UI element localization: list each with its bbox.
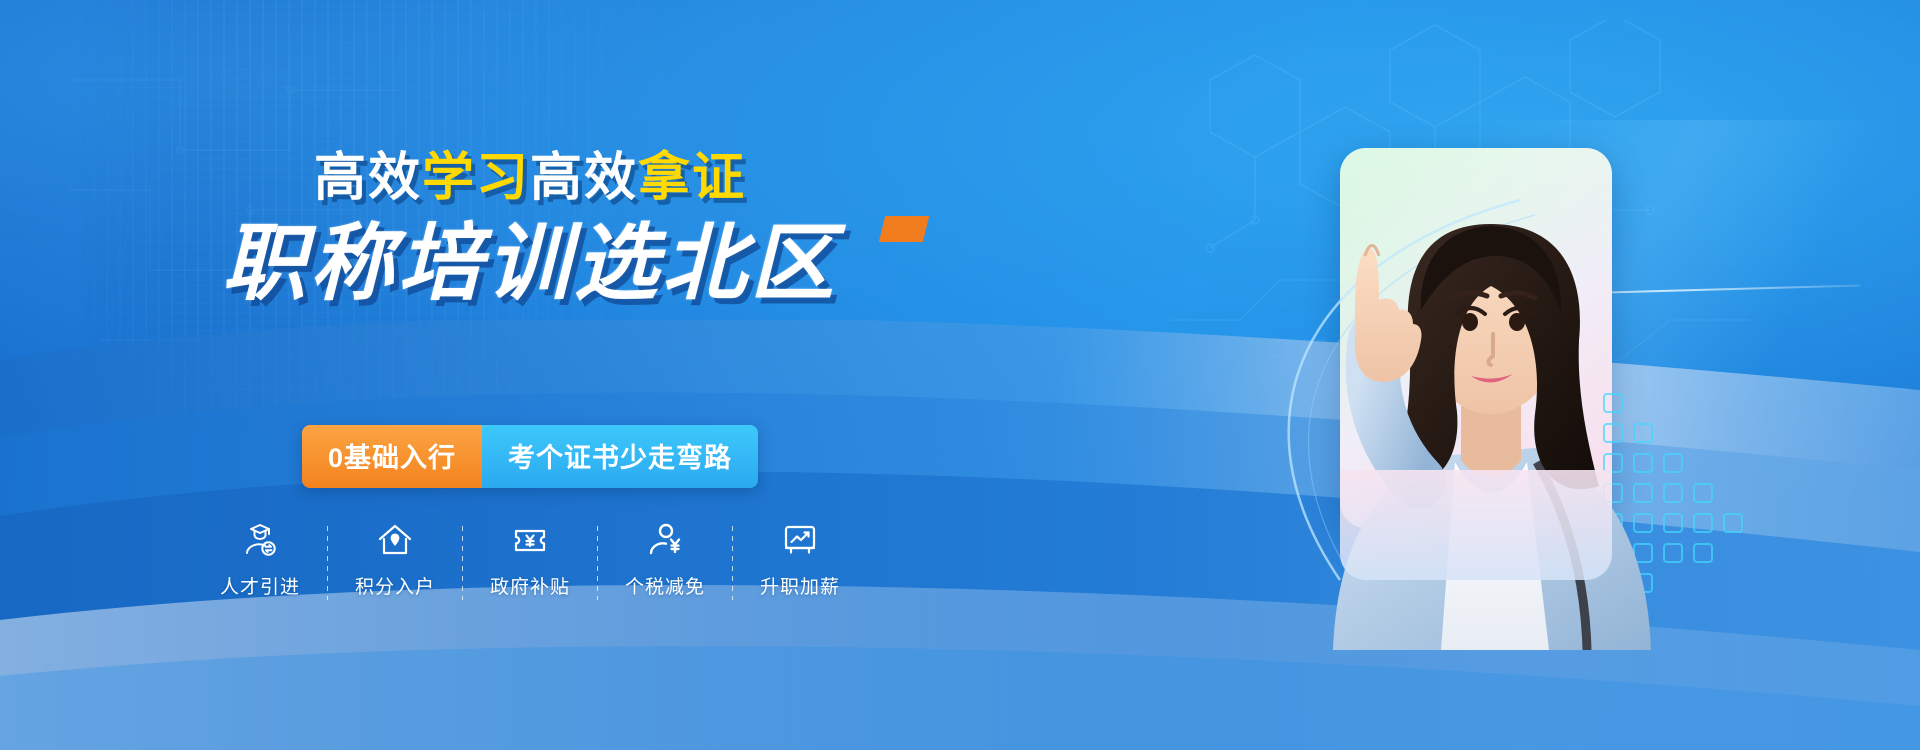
person-yuan-icon (645, 520, 685, 560)
badge-primary[interactable]: 0基础入行 (302, 425, 482, 488)
feature-label: 个税减免 (625, 572, 705, 599)
house-pin-icon (375, 520, 415, 560)
badge-secondary[interactable]: 考个证书少走弯路 (482, 425, 758, 488)
feature-label: 升职加薪 (760, 572, 840, 599)
chart-board-icon (780, 520, 820, 560)
card-lower-gradient (1340, 470, 1612, 580)
feature-list: 人才引进 积分入户 (0, 520, 1060, 600)
feature-item-talent[interactable]: 人才引进 (193, 520, 327, 599)
feature-item-tax[interactable]: 个税减免 (598, 520, 732, 599)
badge-group: 0基础入行 考个证书少走弯路 (302, 425, 758, 488)
banner-content: 高效学习高效拿证 职称培训选北区 0基础入行 考个证书少走弯路 (0, 0, 1060, 750)
graduate-exchange-icon (240, 520, 280, 560)
feature-item-residency[interactable]: 积分入户 (328, 520, 462, 599)
headline-subline: 高效学习高效拿证 (0, 152, 1060, 204)
ticket-yuan-icon (510, 520, 550, 560)
badge-row: 0基础入行 考个证书少走弯路 (0, 425, 1060, 488)
headline-sub-seg-3: 高效 (530, 149, 638, 207)
headline-block: 高效学习高效拿证 职称培训选北区 (0, 152, 1060, 309)
feature-item-subsidy[interactable]: 政府补贴 (463, 520, 597, 599)
headline-sub-seg-1: 高效 (314, 149, 422, 207)
feature-label: 政府补贴 (490, 572, 570, 599)
feature-item-promotion[interactable]: 升职加薪 (733, 520, 867, 599)
headline-main-text: 职称培训选北区 (222, 216, 838, 310)
headline-sub-seg-4: 拿证 (638, 149, 746, 207)
orange-accent-tick (879, 216, 929, 242)
figure-area (1040, 0, 1920, 750)
feature-label: 积分入户 (355, 572, 435, 599)
headline-main: 职称培训选北区 (0, 218, 1060, 309)
headline-sub-seg-2: 学习 (422, 149, 530, 207)
feature-label: 人才引进 (220, 572, 300, 599)
promo-banner: 高效学习高效拿证 职称培训选北区 0基础入行 考个证书少走弯路 (0, 0, 1920, 750)
